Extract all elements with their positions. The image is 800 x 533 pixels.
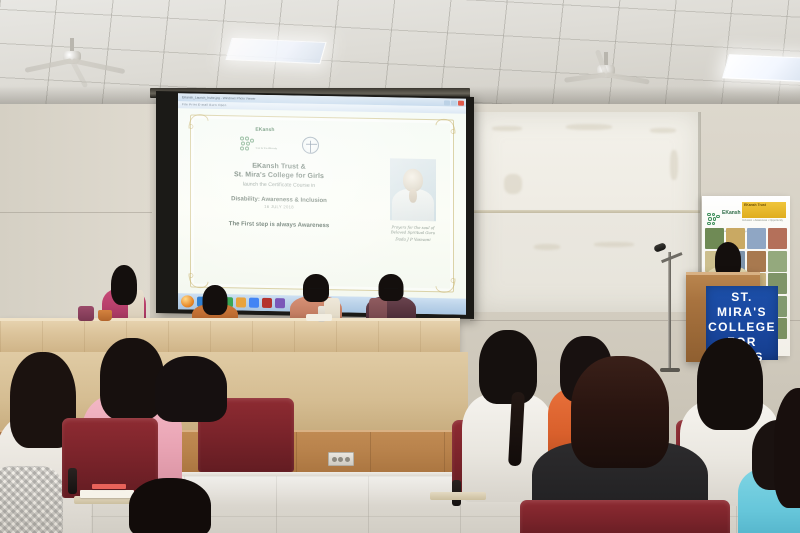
flourish-bottom-right-icon [434, 276, 456, 294]
flourish-top-left-icon [188, 112, 210, 130]
minimize-icon [444, 100, 450, 105]
paper-left [92, 484, 126, 489]
audience-head-lower-center-hair [129, 478, 211, 533]
audience-edge-right [778, 388, 800, 533]
podium-banner-line2: COLLEGE [706, 320, 778, 335]
panelist-peach-glasses-icon [309, 288, 324, 292]
slide-logo-row: EKansh Trust for the differently abled [240, 135, 319, 154]
panelist-dark-sari-glasses-icon [384, 288, 398, 292]
close-icon [458, 100, 464, 105]
ceiling-light-panel-right [722, 54, 800, 81]
slide-portrait-caption: Prayers for the soul of Beloved Spiritua… [382, 224, 444, 243]
audience-head-lower-center [130, 478, 210, 533]
ceiling-light-panel-left [225, 38, 326, 64]
seat-foreground-center [520, 500, 730, 533]
panelist-dark-sari [362, 272, 420, 324]
ceiling-fan-left [52, 38, 92, 78]
panel-table [0, 318, 460, 356]
slide-portrait-photo [390, 158, 436, 221]
audience-floral-shirt-torso [0, 466, 63, 533]
power-socket-box [328, 452, 354, 466]
window-controls [444, 100, 464, 105]
flourish-top-right-icon [434, 117, 456, 135]
table-item-papers [306, 314, 332, 321]
portrait-caption-name: Dada J P Vaswani [382, 236, 444, 243]
rollup-band-title: EKansh Trust [742, 202, 786, 207]
audience-edge-right-hair [774, 388, 800, 508]
projected-slide: EKansh Trust for the differently abled E… [178, 108, 466, 299]
pdf-icon [262, 298, 272, 308]
slide-text-block: EKansh Trust & St. Mira's College for Gi… [204, 161, 354, 230]
ekansh-logo-text: EKansh [255, 126, 274, 132]
photo-scene: EKansh_Launch_Invite.jpg - Windows Photo… [0, 0, 800, 533]
seat-arm-left [68, 468, 77, 494]
maximize-icon [451, 100, 457, 105]
wall-seam-left [0, 212, 152, 213]
audience-floral-shirt [0, 458, 62, 533]
podium-banner-line1: ST. MIRA'S [706, 290, 778, 320]
chrome-icon [249, 298, 259, 308]
rollup-band-subtitle: Inclusion • Awareness • Opportunity [742, 219, 788, 222]
ekansh-logo-icon: EKansh Trust for the differently abled [240, 136, 280, 153]
audience-white-tshirt-braid-hair [479, 330, 537, 404]
audience-head-behind-table-hair [155, 356, 227, 422]
panelist-orange-hair [203, 285, 228, 315]
slide-subheading: launch the Certificate Course in [204, 180, 354, 189]
rollup-logo-name: EKansh [722, 210, 741, 216]
whiteboard [472, 112, 700, 312]
portrait-caption-line2: Beloved Spiritual Guru [382, 230, 444, 237]
table-item-bag [78, 306, 94, 321]
slide-course-date: 16 JULY 2018 [204, 203, 354, 211]
table-item-flower-pot [98, 310, 112, 321]
writing-tablet-right [430, 492, 486, 500]
app-icon [275, 298, 285, 308]
projected-window-title: EKansh_Launch_Invite.jpg - Windows Photo… [182, 95, 255, 100]
audience-white-tshirt-right-hair [697, 338, 763, 430]
audience-dark-tshirt-hair [571, 356, 669, 468]
panelist-pink-hair [111, 265, 137, 305]
audience-head-behind-table [156, 356, 226, 416]
microphone-stand [668, 252, 671, 372]
college-crest-icon [302, 137, 319, 154]
rollup-title-band: EKansh Trust [742, 202, 786, 218]
notebook-left [80, 490, 134, 498]
